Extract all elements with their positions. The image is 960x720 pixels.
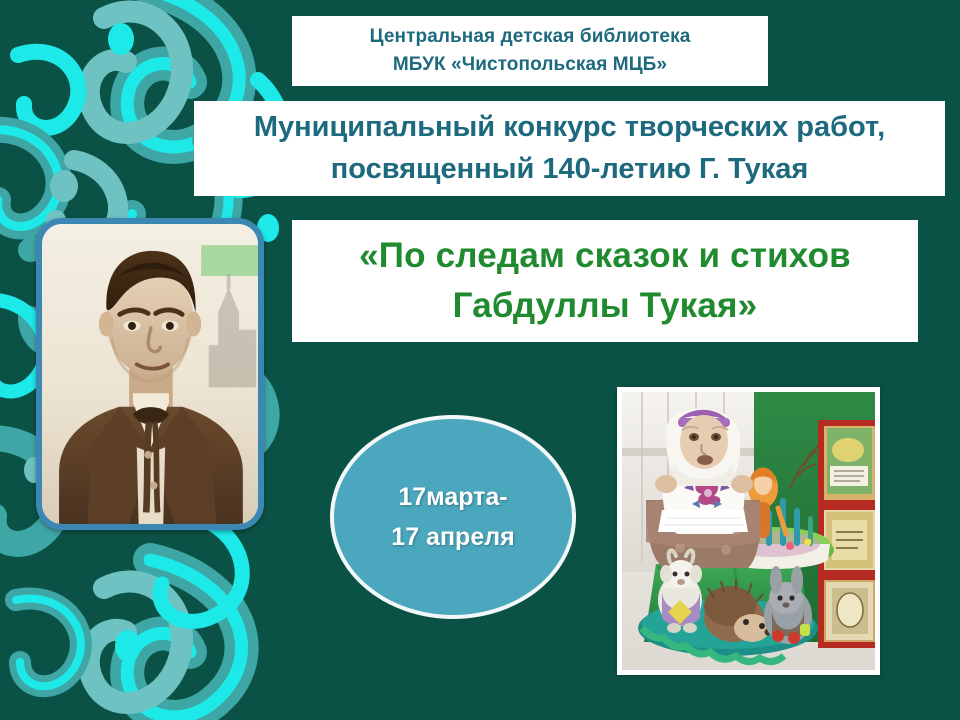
date-line-1: 17марта- bbox=[398, 477, 507, 517]
exhibition-photo bbox=[617, 387, 880, 675]
subtitle-line-2: посвященный 140-летию Г. Тукая bbox=[331, 149, 809, 190]
title-textbox: «По следам сказок и стихов Габдуллы Тука… bbox=[292, 220, 918, 342]
poster-canvas: Центральная детская библиотека МБУК «Чис… bbox=[0, 0, 960, 720]
subtitle-textbox: Муниципальный конкурс творческих работ, … bbox=[194, 101, 945, 196]
title-line-1: «По следам сказок и стихов bbox=[359, 231, 851, 281]
title-line-2: Габдуллы Тукая» bbox=[453, 281, 758, 331]
organization-line-1: Центральная детская библиотека bbox=[370, 23, 691, 51]
subtitle-line-1: Муниципальный конкурс творческих работ, bbox=[254, 107, 885, 148]
portrait-gabdulla-tukay bbox=[36, 218, 264, 530]
organization-textbox: Центральная детская библиотека МБУК «Чис… bbox=[292, 16, 768, 86]
organization-line-2: МБУК «Чистопольская МЦБ» bbox=[393, 51, 667, 79]
date-line-2: 17 апреля bbox=[391, 517, 514, 557]
date-badge: 17марта- 17 апреля bbox=[330, 415, 576, 619]
